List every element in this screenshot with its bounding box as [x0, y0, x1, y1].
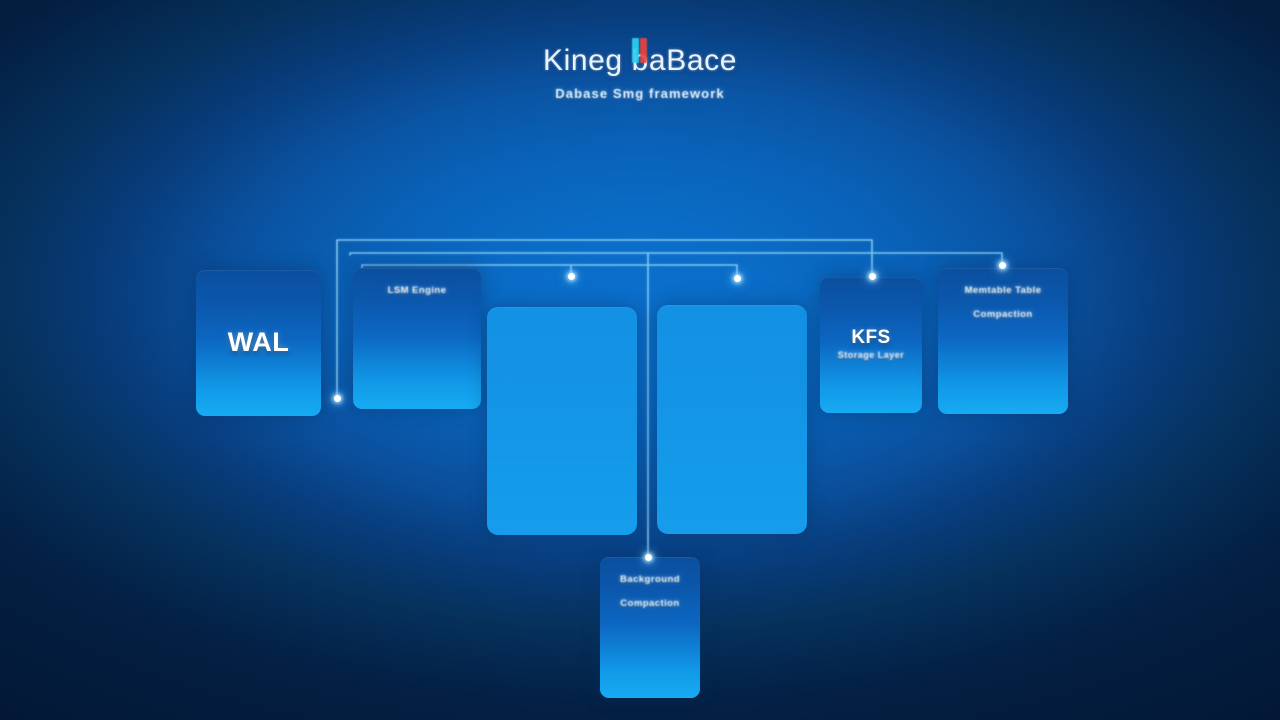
dot-compaction-icon [645, 554, 652, 561]
title-glitch-red-icon [640, 38, 647, 63]
kfs-node-title: KFS [851, 328, 890, 349]
column-a-node[interactable] [487, 307, 637, 535]
kfs-node[interactable]: KFSStorage Layer [820, 277, 922, 413]
wal-node[interactable]: WAL [196, 270, 321, 416]
diagram-header: Kineg baBace Dabase Smg framework [0, 44, 1280, 101]
memtable-node[interactable]: Memtable TableCompaction [938, 268, 1068, 414]
dot-memtable-icon [999, 262, 1006, 269]
dot-column-a-icon [568, 273, 575, 280]
page-title-text: Kineg baBace [543, 44, 737, 77]
column-b-node[interactable] [657, 305, 807, 534]
diagram-canvas: Kineg baBace Dabase Smg framework WALLSM… [0, 0, 1280, 720]
memtable-node-label-1: Compaction [973, 308, 1032, 323]
kfs-node-subtitle: Storage Layer [838, 349, 905, 363]
wal-node-title: WAL [228, 328, 290, 358]
compaction-node-label-1: Compaction [620, 597, 679, 612]
lsm-engine-node[interactable]: LSM Engine [353, 268, 481, 409]
compaction-node-label-0: Background [620, 573, 680, 588]
page-title: Kineg baBace [543, 44, 737, 78]
dot-column-b-icon [734, 275, 741, 282]
dot-wal-icon [334, 395, 341, 402]
dot-kfs-icon [869, 273, 876, 280]
compaction-node[interactable]: BackgroundCompaction [600, 557, 700, 698]
page-subtitle: Dabase Smg framework [0, 86, 1280, 101]
memtable-node-label-0: Memtable Table [965, 284, 1042, 299]
lsm-engine-node-label-0: LSM Engine [388, 284, 447, 299]
title-glitch-cyan-icon [632, 38, 639, 63]
